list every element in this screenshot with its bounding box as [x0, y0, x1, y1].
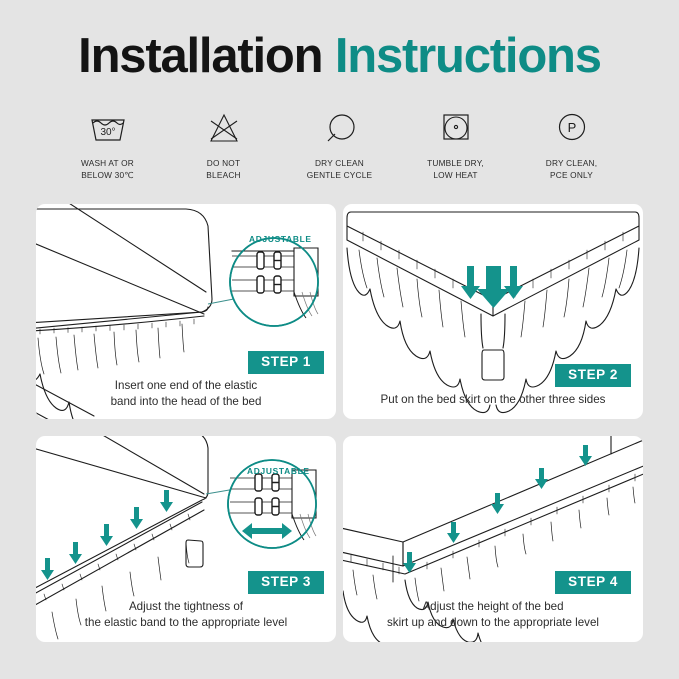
- care-symbol-label: DRY CLEAN, PCE ONLY: [546, 157, 598, 181]
- care-symbol-label: DO NOT BLEACH: [206, 157, 240, 181]
- svg-text:30°: 30°: [100, 127, 115, 138]
- step-panel-4: STEP 4 Adjust the height of the bed skir…: [343, 436, 643, 642]
- care-symbols-row: 30° WASH AT OR BELOW 30℃ DO NOT BLEACH: [0, 108, 679, 181]
- care-symbol-tumble-dry: TUMBLE DRY, LOW HEAT: [417, 108, 495, 181]
- dry-clean-circle-icon: [320, 108, 360, 148]
- step-badge-2: STEP 2: [555, 364, 631, 387]
- step-2-illustration: [343, 204, 643, 419]
- step-caption-3: Adjust the tightness of the elastic band…: [36, 599, 336, 632]
- tumble-dry-low-icon: [436, 108, 476, 148]
- page-title: Installation Instructions: [0, 32, 679, 81]
- care-symbol-wash: 30° WASH AT OR BELOW 30℃: [69, 108, 147, 181]
- step-badge-4: STEP 4: [555, 571, 631, 594]
- wash-tub-30-icon: 30°: [88, 108, 128, 148]
- step-panel-1: ADJUSTABLE STEP 1 Insert one end of the …: [36, 204, 336, 419]
- magnifier-adjustable-label: ADJUSTABLE: [247, 466, 310, 476]
- magnifier-adjustable-label: ADJUSTABLE: [249, 234, 312, 244]
- step-caption-1: Insert one end of the elastic band into …: [36, 378, 336, 411]
- page-title-part-1: Installation: [78, 29, 322, 83]
- step-badge-3: STEP 3: [248, 571, 324, 594]
- step-panel-2: STEP 2 Put on the bed skirt on the other…: [343, 204, 643, 419]
- svg-text:P: P: [567, 120, 576, 135]
- page-title-part-2: Instructions: [335, 29, 601, 83]
- step-badge-1: STEP 1: [248, 351, 324, 374]
- tightness-arrow-group: [41, 490, 173, 580]
- care-symbol-no-bleach: DO NOT BLEACH: [185, 108, 263, 181]
- installation-instructions-page: Installation Instructions 30° WASH AT OR…: [0, 0, 679, 679]
- dry-clean-p-icon: P: [552, 108, 592, 148]
- no-bleach-triangle-icon: [204, 108, 244, 148]
- care-symbol-label: TUMBLE DRY, LOW HEAT: [427, 157, 484, 181]
- step-panel-3: ADJUSTABLE STEP 3 Adjust the tightness o…: [36, 436, 336, 642]
- care-symbol-label: DRY CLEAN GENTLE CYCLE: [307, 157, 373, 181]
- step-caption-2: Put on the bed skirt on the other three …: [343, 392, 643, 408]
- step-caption-4: Adjust the height of the bed skirt up an…: [343, 599, 643, 632]
- care-symbol-label: WASH AT OR BELOW 30℃: [81, 157, 134, 181]
- care-symbol-dry-clean-p: P DRY CLEAN, PCE ONLY: [533, 108, 611, 181]
- care-symbol-dry-clean-gentle: DRY CLEAN GENTLE CYCLE: [301, 108, 379, 181]
- down-arrow-group: [461, 266, 523, 308]
